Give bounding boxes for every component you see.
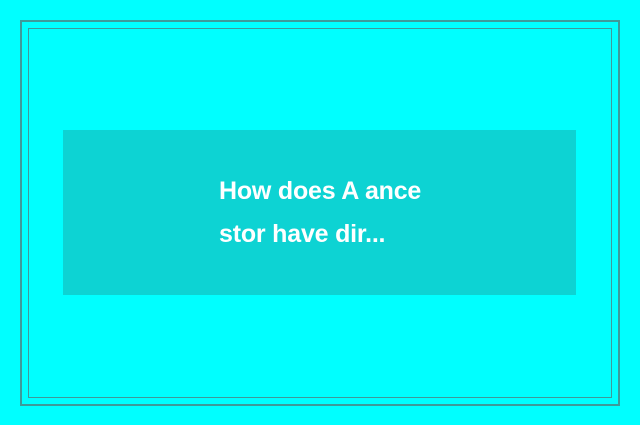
headline-card: How does A ance stor have dir...: [63, 130, 576, 295]
headline-line-1: How does A ance: [63, 170, 576, 213]
headline-line-2: stor have dir...: [63, 213, 576, 256]
screenshot-canvas: How does A ance stor have dir...: [0, 0, 640, 425]
